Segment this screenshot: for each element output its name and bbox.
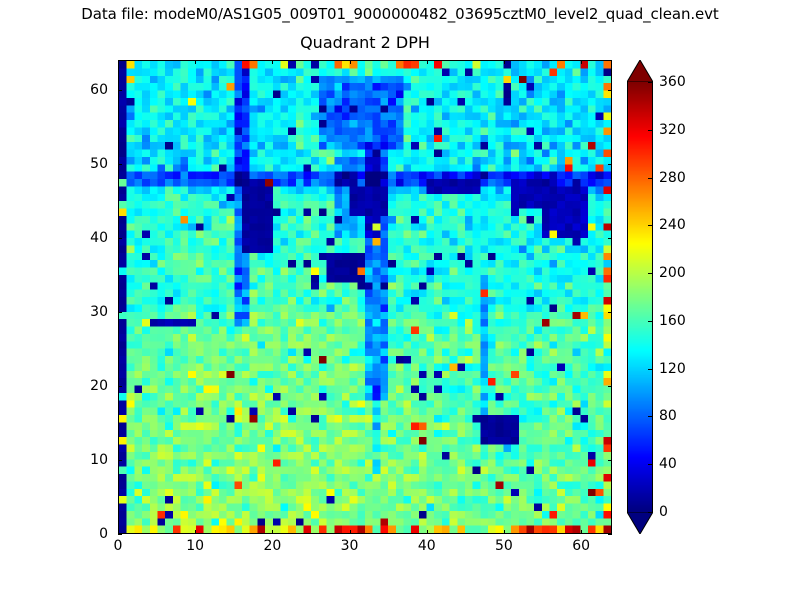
x-tick-label-10: 10 (186, 538, 204, 554)
y-tick-50 (118, 164, 122, 165)
x-tick-label-0: 0 (114, 538, 123, 554)
x-tick-label-30: 30 (341, 538, 359, 554)
y-tick-right-10 (608, 460, 612, 461)
y-tick-label-20: 20 (70, 378, 108, 394)
colorbar-tick-200 (648, 273, 653, 274)
x-tick-top-20 (272, 60, 273, 64)
y-tick-label-40: 40 (70, 230, 108, 246)
y-tick-right-60 (608, 90, 612, 91)
x-tick-top-30 (350, 60, 351, 64)
x-tick-20 (272, 530, 273, 534)
colorbar-tick-label-240: 240 (659, 217, 686, 233)
x-tick-label-60: 60 (572, 538, 590, 554)
x-tick-label-50: 50 (495, 538, 513, 554)
y-tick-40 (118, 238, 122, 239)
colorbar-tick-40 (648, 464, 653, 465)
colorbar-tick-label-40: 40 (659, 456, 677, 472)
x-tick-label-20: 20 (263, 538, 281, 554)
colorbar-tick-0 (648, 512, 653, 513)
y-tick-label-50: 50 (70, 156, 108, 172)
y-tick-right-30 (608, 312, 612, 313)
colorbar-tick-280 (648, 178, 653, 179)
colorbar-extend-bottom-icon (627, 512, 653, 534)
x-tick-30 (350, 530, 351, 534)
colorbar-tick-label-120: 120 (659, 361, 686, 377)
y-tick-30 (118, 312, 122, 313)
colorbar-tick-160 (648, 321, 653, 322)
x-tick-40 (427, 530, 428, 534)
colorbar-gradient (628, 82, 652, 512)
colorbar-tick-label-80: 80 (659, 408, 677, 424)
y-tick-right-20 (608, 386, 612, 387)
colorbar-tick-label-360: 360 (659, 74, 686, 90)
colorbar-tick-80 (648, 416, 653, 417)
axes-title: Quadrant 2 DPH (118, 33, 612, 52)
colorbar-body (627, 82, 653, 512)
colorbar-extend-top-icon (627, 60, 653, 82)
colorbar-tick-120 (648, 369, 653, 370)
x-tick-label-40: 40 (418, 538, 436, 554)
x-tick-top-10 (195, 60, 196, 64)
figure-suptitle: Data file: modeM0/AS1G05_009T01_90000004… (0, 5, 800, 23)
colorbar-tick-label-320: 320 (659, 122, 686, 138)
colorbar-tick-320 (648, 130, 653, 131)
colorbar-tick-360 (648, 82, 653, 83)
y-tick-right-50 (608, 164, 612, 165)
x-tick-10 (195, 530, 196, 534)
heatmap-image (119, 61, 611, 533)
y-tick-60 (118, 90, 122, 91)
x-tick-50 (504, 530, 505, 534)
colorbar-tick-label-160: 160 (659, 313, 686, 329)
x-tick-60 (581, 530, 582, 534)
colorbar-tick-label-0: 0 (659, 504, 668, 520)
y-tick-right-0 (608, 534, 612, 535)
y-tick-10 (118, 460, 122, 461)
y-tick-label-10: 10 (70, 452, 108, 468)
figure-canvas: Data file: modeM0/AS1G05_009T01_90000004… (0, 0, 800, 600)
x-tick-top-0 (118, 60, 119, 64)
colorbar-tick-240 (648, 225, 653, 226)
x-tick-top-40 (427, 60, 428, 64)
y-tick-label-60: 60 (70, 82, 108, 98)
y-tick-right-40 (608, 238, 612, 239)
colorbar-tick-label-200: 200 (659, 265, 686, 281)
y-tick-label-0: 0 (70, 526, 108, 542)
heatmap-axes (118, 60, 612, 534)
y-tick-0 (118, 534, 122, 535)
y-tick-label-30: 30 (70, 304, 108, 320)
colorbar (627, 60, 653, 534)
colorbar-tick-label-280: 280 (659, 170, 686, 186)
x-tick-top-50 (504, 60, 505, 64)
x-tick-top-60 (581, 60, 582, 64)
y-tick-20 (118, 386, 122, 387)
